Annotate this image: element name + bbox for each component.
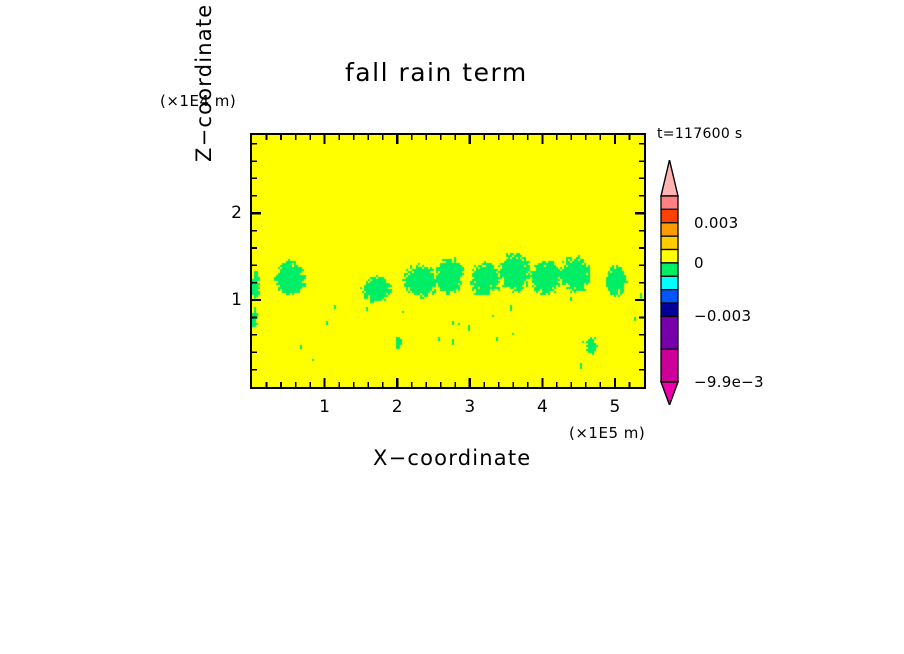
x-axis-unit-label: (×1E5 m) (569, 424, 645, 442)
figure-root: fall rain term (×1E4 m) (×1E5 m) X−coord… (0, 0, 904, 654)
x-tick-label: 4 (537, 397, 548, 417)
x-tick-label: 5 (610, 397, 621, 417)
colorbar-tick-label: 0.003 (694, 214, 738, 232)
x-tick-label: 3 (464, 397, 475, 417)
colorbar (655, 160, 695, 405)
heatmap-canvas (252, 135, 644, 387)
x-tick-label: 2 (392, 397, 403, 417)
colorbar-tick-label: −0.003 (694, 307, 751, 325)
y-axis-title: Z−coordinate (192, 4, 216, 162)
time-annotation: t=117600 s (657, 126, 742, 142)
y-tick-label: 1 (218, 290, 242, 310)
x-axis-title: X−coordinate (373, 446, 531, 470)
colorbar-tick-label: −9.9e−3 (694, 373, 764, 391)
y-tick-label: 2 (218, 203, 242, 223)
colorbar-tick-label: 0 (694, 254, 704, 272)
figure-title: fall rain term (345, 58, 528, 87)
x-tick-label: 1 (319, 397, 330, 417)
plot-area (250, 133, 646, 389)
colorbar-swatches (655, 160, 695, 405)
